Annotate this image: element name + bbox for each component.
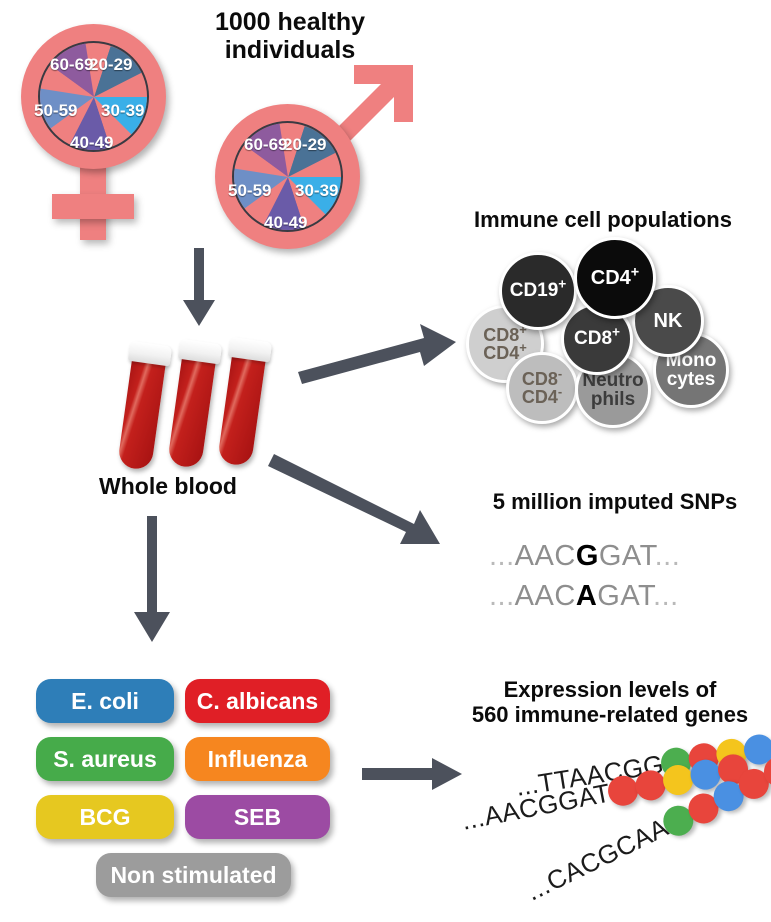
stimulation-pill-seb[interactable]: SEB	[185, 795, 330, 839]
female-symbol: 20-29 30-39 40-49 50-59 60-69	[8, 12, 198, 242]
bead-red	[633, 767, 668, 802]
expression-title: Expression levels of 560 immune-related …	[455, 678, 765, 727]
expression-title-line1: Expression levels of	[455, 678, 765, 703]
stimulation-pill-bcg[interactable]: BCG	[36, 795, 174, 839]
snp-suffix: ...	[655, 540, 681, 572]
stimulation-pill-e-coli[interactable]: E. coli	[36, 679, 174, 723]
immune-cell-monocytes: Monocytes	[653, 332, 729, 408]
blood-tube-body	[217, 351, 266, 467]
snp-variant-base: A	[576, 580, 597, 612]
immune-title: Immune cell populations	[448, 208, 758, 233]
arrow-blood-to-immune	[296, 322, 461, 380]
stimulation-label: BCG	[79, 804, 130, 831]
snp-variant-base: G	[576, 540, 599, 572]
pie-label-20-29: 20-29	[283, 135, 326, 155]
immune-cell-label: NK	[654, 311, 683, 331]
snp-prefix: ...	[489, 580, 515, 612]
snp-left-bases: AAC	[515, 540, 576, 572]
arrow-stimulations-to-expression	[362, 758, 467, 792]
stimulation-pill-c-albicans[interactable]: C. albicans	[185, 679, 330, 723]
arrow-blood-to-stimulations	[128, 516, 178, 646]
blood-tube	[216, 337, 276, 474]
immune-cell-label: Neutrophils	[582, 371, 643, 410]
snp-title: 5 million imputed SNPs	[470, 490, 760, 515]
cohort-title-line1: 1000 healthy	[175, 8, 405, 36]
snp-suffix: ...	[653, 580, 679, 612]
immune-cell-neutrophils: Neutrophils	[575, 352, 651, 428]
blood-tube-body	[117, 355, 166, 471]
stimulation-label: SEB	[234, 804, 281, 831]
immune-cell-cd8p-cd4p: CD8+CD4+	[466, 305, 544, 383]
bead-yellow	[660, 762, 695, 797]
stimulation-pill-s-aureus[interactable]: S. aureus	[36, 737, 174, 781]
cohort-title-line2: individuals	[175, 36, 405, 64]
arrow-blood-to-snps	[272, 448, 452, 548]
immune-cell-cd8n-cd4n: CD8-CD4-	[506, 352, 578, 424]
pie-label-50-59: 50-59	[228, 181, 271, 201]
stimulation-pill-influenza[interactable]: Influenza	[185, 737, 330, 781]
stimulation-label: Non stimulated	[110, 862, 276, 889]
pie-label-30-39: 30-39	[295, 181, 338, 201]
immune-cell-label: CD8+	[574, 329, 620, 348]
expression-title-line2: 560 immune-related genes	[455, 703, 765, 728]
expression-sequence: ...CACGCAA	[521, 812, 673, 907]
stimulation-label: C. albicans	[197, 688, 318, 715]
female-symbol-crossbar	[52, 194, 134, 219]
blood-tube-body	[167, 353, 216, 469]
immune-cell-label: Monocytes	[666, 351, 717, 390]
snp-sequence-row: ...AACGGAT...	[489, 540, 680, 573]
snp-sequence-row: ...AACAGAT...	[489, 580, 679, 613]
immune-cell-label: CD19+	[510, 281, 567, 300]
whole-blood-label: Whole blood	[78, 474, 258, 500]
immune-cell-label: CD8+CD4+	[483, 326, 527, 363]
stimulation-pill-non-stimulated[interactable]: Non stimulated	[96, 853, 291, 897]
immune-cell-label: CD4+	[591, 268, 639, 288]
immune-cell-cd4p: CD4+	[574, 237, 656, 319]
male-symbol: 20-29 30-39 40-49 50-59 60-69	[205, 60, 420, 250]
pie-label-30-39: 30-39	[101, 101, 144, 121]
pie-label-60-69: 60-69	[50, 55, 93, 75]
pie-label-50-59: 50-59	[34, 101, 77, 121]
immune-cell-cd19p: CD19+	[499, 252, 577, 330]
snp-left-bases: AAC	[515, 580, 576, 612]
pie-label-20-29: 20-29	[89, 55, 132, 75]
immune-cell-nk: NK	[632, 285, 704, 357]
immune-cell-cd8p: CD8+	[561, 303, 633, 375]
arrow-cohort-to-blood	[175, 248, 225, 330]
stimulation-label: S. aureus	[53, 746, 157, 773]
immune-cell-label: CD8-CD4-	[522, 370, 562, 407]
stimulation-label: E. coli	[71, 688, 139, 715]
snp-prefix: ...	[489, 540, 515, 572]
snp-right-bases: GAT	[599, 540, 655, 572]
snp-right-bases: GAT	[597, 580, 653, 612]
pie-label-40-49: 40-49	[264, 213, 307, 233]
stimulation-label: Influenza	[208, 746, 308, 773]
pie-label-60-69: 60-69	[244, 135, 287, 155]
whole-blood-tubes	[108, 337, 293, 477]
cohort-title: 1000 healthy individuals	[175, 8, 405, 64]
pie-label-40-49: 40-49	[70, 133, 113, 153]
